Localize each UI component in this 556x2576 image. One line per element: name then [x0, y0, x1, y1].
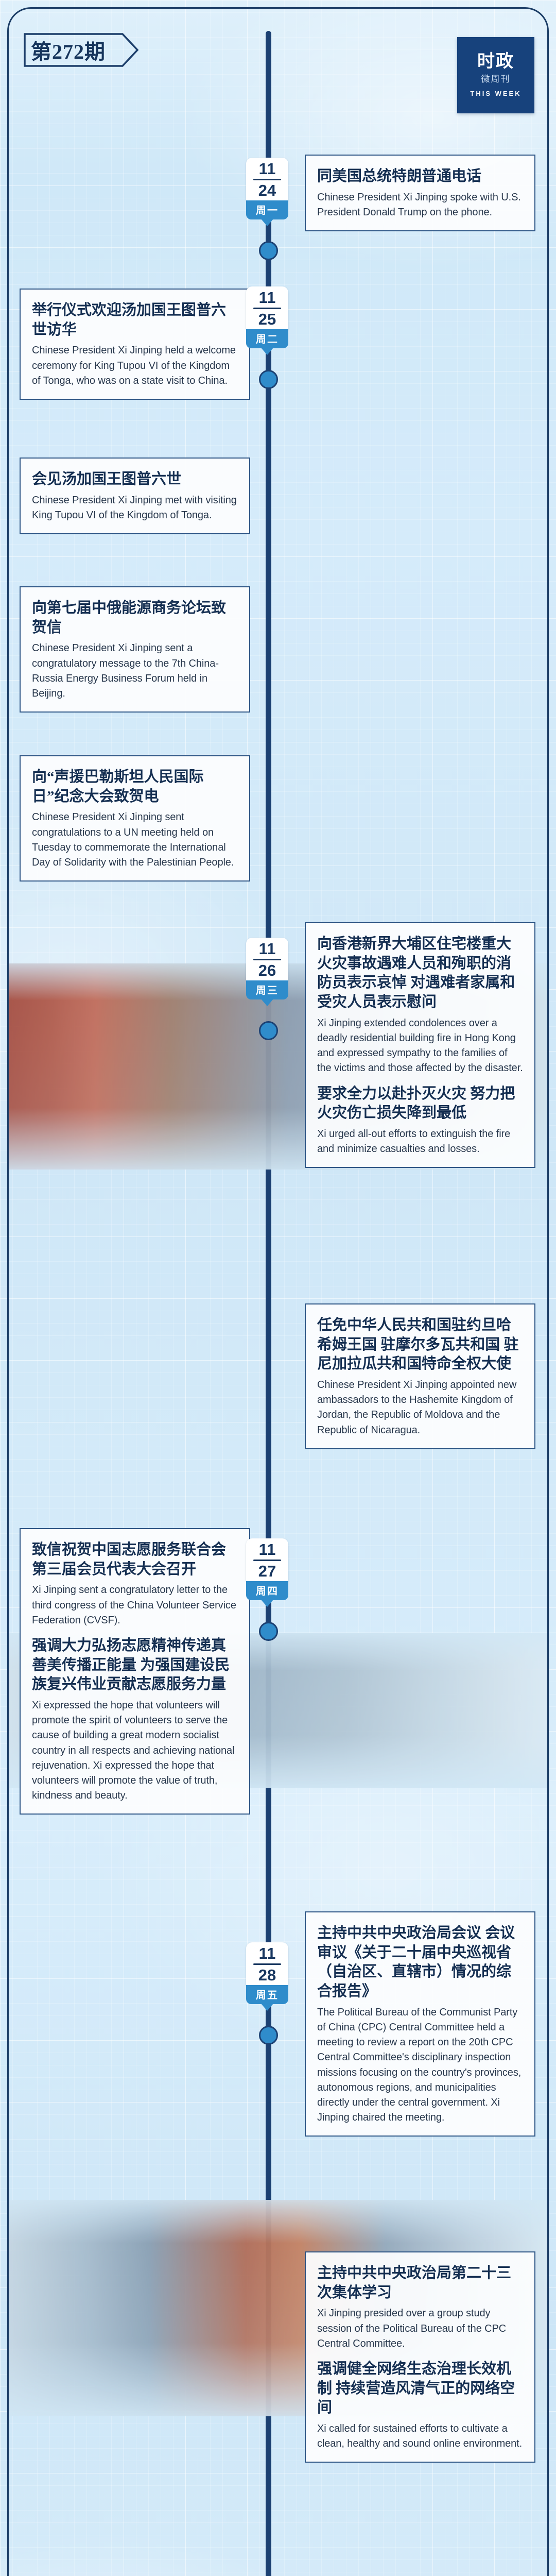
card-title-zh: 举行仪式欢迎汤加国王图普六世访华	[32, 301, 238, 340]
date-day: 26	[246, 962, 288, 978]
date-badge-top: 11 24	[246, 158, 288, 200]
date-badge-tip-icon	[261, 348, 273, 355]
card-title-zh: 强调健全网络生态治理长效机制 持续营造风清气正的网络空间	[317, 2360, 523, 2418]
timeline-spine	[266, 31, 271, 2576]
card-title-zh: 主持中共中央政治局第二十三次集体学习	[317, 2264, 523, 2302]
date-weekday: 周二	[246, 329, 288, 348]
logo-line1: 时政	[477, 53, 514, 71]
card-body-en: Xi urged all-out efforts to extinguish t…	[317, 1127, 523, 1157]
timeline-card[interactable]: 向第七届中俄能源商务论坛致贺信 Chinese President Xi Jin…	[20, 586, 250, 713]
date-badge-top: 11 25	[246, 286, 288, 329]
timeline-dot-1124	[259, 241, 278, 260]
issue-number-label: 第272期	[31, 35, 106, 65]
date-badge-top: 11 26	[246, 938, 288, 980]
card-title-zh: 致信祝贺中国志愿服务联合会第三届会员代表大会召开	[32, 1540, 238, 1579]
date-badge-1127: 11 27 周四	[246, 1538, 288, 1600]
frame-left-border	[7, 82, 9, 2576]
date-badge-top: 11 27	[246, 1538, 288, 1581]
date-month: 11	[246, 941, 288, 957]
timeline-card[interactable]: 主持中共中央政治局会议 会议审议《关于二十届中央巡视省（自治区、直辖市）情况的综…	[305, 1911, 535, 2137]
date-badge-1126: 11 26 周三	[246, 938, 288, 999]
card-title-zh: 主持中共中央政治局会议 会议审议《关于二十届中央巡视省（自治区、直辖市）情况的综…	[317, 1924, 523, 2002]
timeline-dot-1125	[259, 370, 278, 389]
date-divider	[253, 308, 281, 309]
date-weekday: 周一	[246, 200, 288, 219]
date-weekday: 周四	[246, 1581, 288, 1600]
date-weekday: 周五	[246, 1985, 288, 2004]
card-body-en: Chinese President Xi Jinping held a welc…	[32, 343, 238, 388]
card-title-zh: 任免中华人民共和国驻约旦哈希姆王国 驻摩尔多瓦共和国 驻尼加拉瓜共和国特命全权大…	[317, 1316, 523, 1374]
date-badge-1124: 11 24 周一	[246, 158, 288, 219]
issue-number-badge: 第272期	[24, 33, 139, 67]
card-body-en: Chinese President Xi Jinping appointed n…	[317, 1378, 523, 1438]
card-body-en: Xi Jinping presided over a group study s…	[317, 2306, 523, 2351]
timeline-card[interactable]: 主持中共中央政治局第二十三次集体学习 Xi Jinping presided o…	[305, 2251, 535, 2463]
card-body-en: Chinese President Xi Jinping sent a cong…	[32, 641, 238, 701]
date-divider	[253, 1560, 281, 1561]
timeline-card[interactable]: 会见汤加国王图普六世 Chinese President Xi Jinping …	[20, 457, 250, 534]
card-title-zh: 向香港新界大埔区住宅楼重大火灾事故遇难人员和殉职的消防员表示哀悼 对遇难者家属和…	[317, 935, 523, 1012]
date-day: 28	[246, 1967, 288, 1983]
card-body-en: Xi expressed the hope that volunteers wi…	[32, 1698, 238, 1803]
card-body-en: Xi called for sustained efforts to culti…	[317, 2421, 523, 2451]
date-badge-1128: 11 28 周五	[246, 1942, 288, 2004]
date-badge-tip-icon	[261, 999, 273, 1006]
timeline-card[interactable]: 举行仪式欢迎汤加国王图普六世访华 Chinese President Xi Ji…	[20, 289, 250, 400]
date-month: 11	[246, 161, 288, 177]
card-title-zh: 强调大力弘扬志愿精神传递真善美传播正能量 为强国建设民族复兴伟业贡献志愿服务力量	[32, 1636, 238, 1694]
date-month: 11	[246, 1541, 288, 1557]
date-day: 25	[246, 311, 288, 327]
card-title-zh: 同美国总统特朗普通电话	[317, 167, 523, 187]
timeline-dot-1127	[259, 1622, 278, 1641]
card-body-en: Xi Jinping extended condolences over a d…	[317, 1016, 523, 1076]
card-title-zh: 向第七届中俄能源商务论坛致贺信	[32, 599, 238, 637]
date-month: 11	[246, 1945, 288, 1961]
date-badge-tip-icon	[261, 1600, 273, 1607]
timeline-card[interactable]: 同美国总统特朗普通电话 Chinese President Xi Jinping…	[305, 155, 535, 231]
date-divider	[253, 1963, 281, 1965]
timeline-dot-1126	[259, 1021, 278, 1040]
card-title-zh: 要求全力以赴扑灭火灾 努力把火灾伤亡损失降到最低	[317, 1084, 523, 1123]
brand-logo: 时政 微周刊 THIS WEEK	[457, 37, 534, 113]
date-month: 11	[246, 290, 288, 306]
timeline-card[interactable]: 任免中华人民共和国驻约旦哈希姆王国 驻摩尔多瓦共和国 驻尼加拉瓜共和国特命全权大…	[305, 1303, 535, 1449]
date-divider	[253, 959, 281, 960]
date-badge-tip-icon	[261, 2004, 273, 2011]
date-badge-tip-icon	[261, 219, 273, 226]
timeline-dot-1128	[259, 2026, 278, 2045]
date-day: 24	[246, 182, 288, 198]
date-badge-1125: 11 25 周二	[246, 286, 288, 348]
card-body-en: Chinese President Xi Jinping met with vi…	[32, 493, 238, 523]
card-title-zh: 向“声援巴勒斯坦人民国际日”纪念大会致贺电	[32, 768, 238, 806]
card-body-en: Chinese President Xi Jinping spoke with …	[317, 190, 523, 220]
frame-right-border	[547, 82, 549, 2576]
date-weekday: 周三	[246, 980, 288, 999]
timeline-card[interactable]: 致信祝贺中国志愿服务联合会第三届会员代表大会召开 Xi Jinping sent…	[20, 1528, 250, 1815]
date-divider	[253, 179, 281, 180]
card-title-zh: 会见汤加国王图普六世	[32, 470, 238, 489]
logo-english: THIS WEEK	[470, 90, 521, 97]
card-body-en: Chinese President Xi Jinping sent congra…	[32, 810, 238, 870]
card-body-en: The Political Bureau of the Communist Pa…	[317, 2005, 523, 2126]
date-badge-top: 11 28	[246, 1942, 288, 1985]
logo-line2: 微周刊	[481, 72, 511, 84]
timeline-card[interactable]: 向“声援巴勒斯坦人民国际日”纪念大会致贺电 Chinese President …	[20, 755, 250, 882]
card-body-en: Xi Jinping sent a congratulatory letter …	[32, 1583, 238, 1628]
timeline-card[interactable]: 向香港新界大埔区住宅楼重大火灾事故遇难人员和殉职的消防员表示哀悼 对遇难者家属和…	[305, 922, 535, 1168]
date-day: 27	[246, 1563, 288, 1579]
